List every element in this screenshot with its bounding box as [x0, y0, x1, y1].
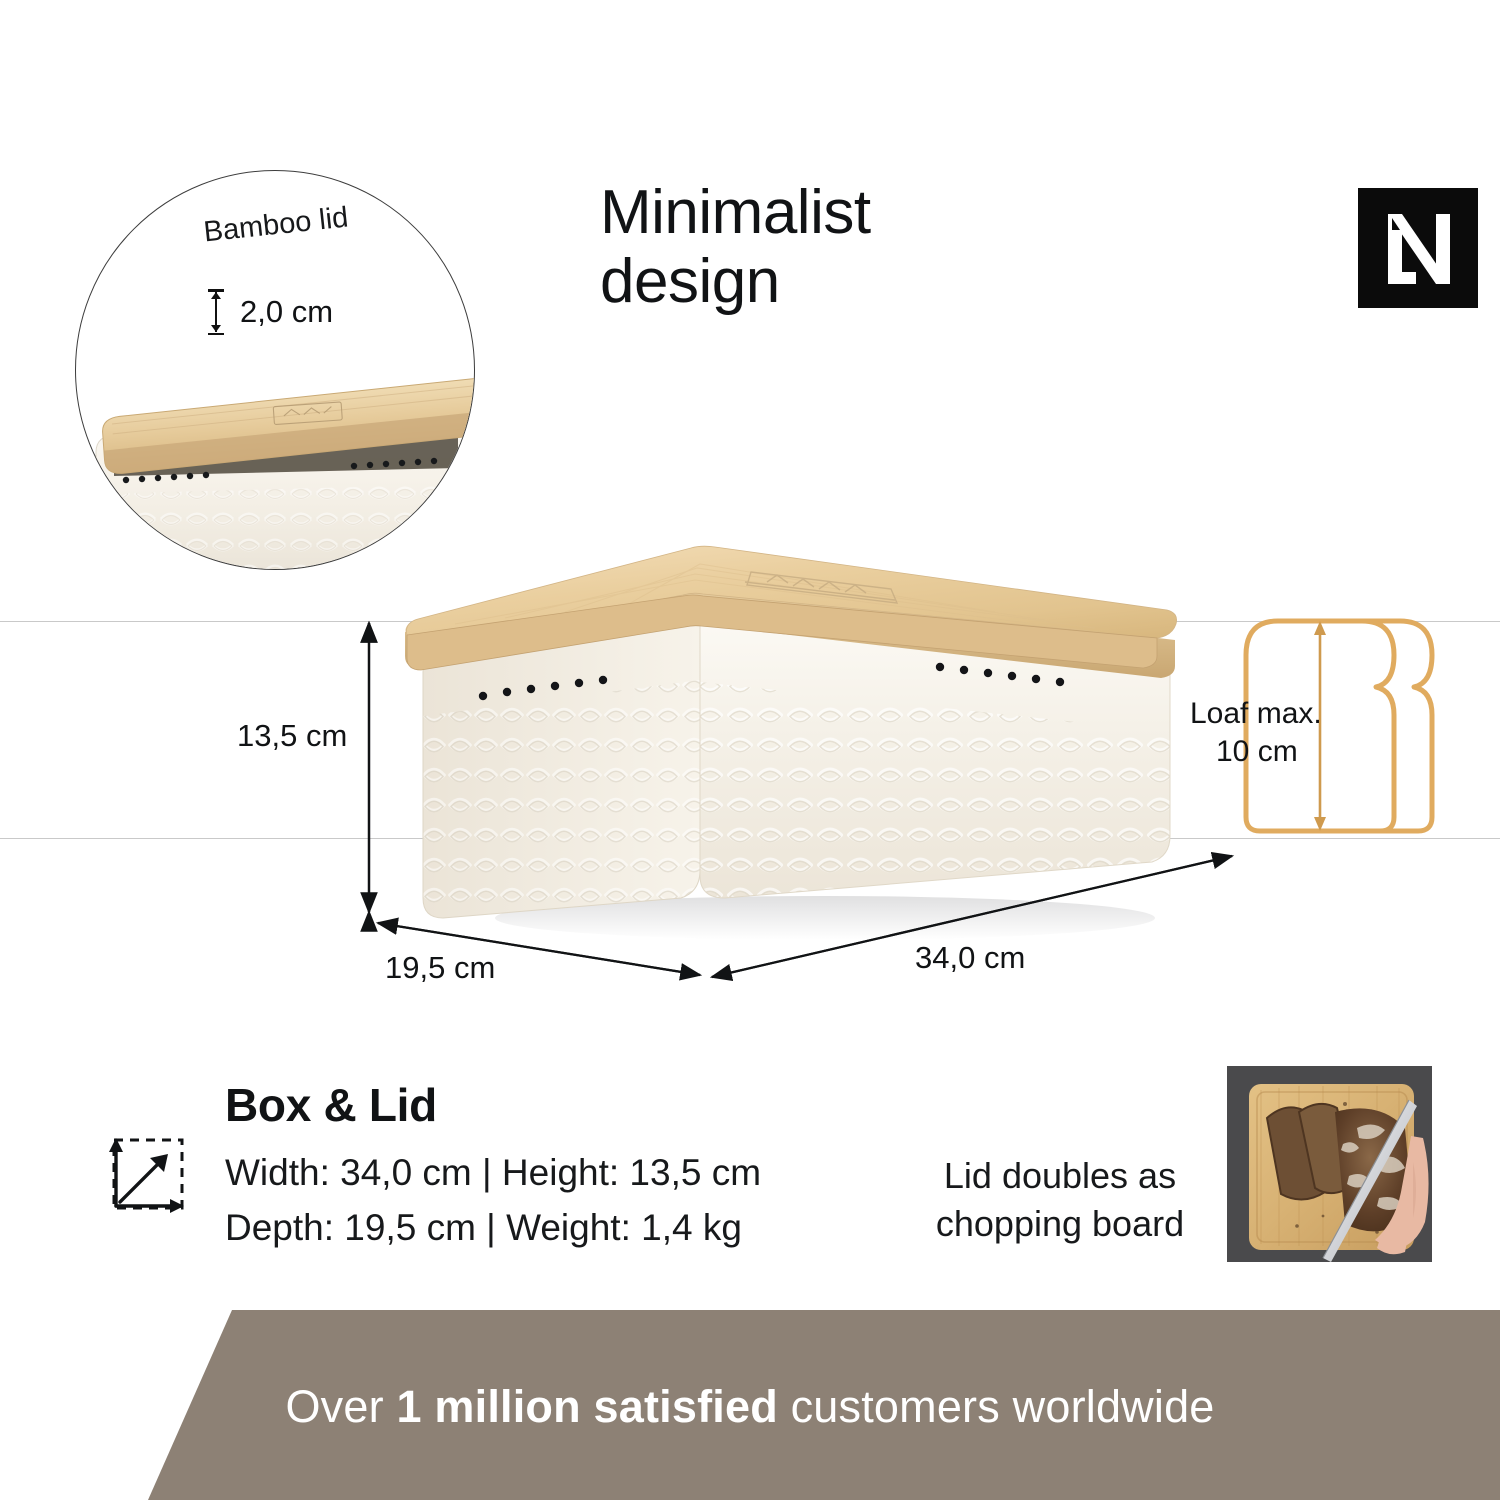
chopping-board-caption: Lid doubles as chopping board — [900, 1152, 1220, 1248]
infographic-page: Minimalist design Bamboo lid 2,0 cm — [0, 0, 1500, 1500]
chopping-board-line-1: Lid doubles as — [900, 1152, 1220, 1200]
depth-dimension-label: 19,5 cm — [385, 950, 495, 986]
lid-thickness-callout: 2,0 cm — [208, 289, 333, 335]
dimensions-arrows-icon — [100, 1128, 196, 1224]
chopping-board-line-2: chopping board — [900, 1200, 1220, 1248]
spec-line-1: Width: 34,0 cm | Height: 13,5 cm — [225, 1146, 761, 1201]
height-dimension-label: 13,5 cm — [237, 718, 347, 754]
vertical-dimension-arrow-icon — [208, 289, 224, 335]
bamboo-lid-inset: Bamboo lid 2,0 cm — [75, 170, 475, 570]
banner-suffix: customers worldwide — [778, 1381, 1215, 1432]
loaf-max-line-1: Loaf max. — [1190, 697, 1322, 730]
brand-logo-n-mark-icon — [1358, 188, 1478, 308]
banner-emphasis: 1 million satisfied — [396, 1381, 777, 1432]
banner-prefix: Over — [285, 1381, 396, 1432]
bread-cutting-board-photo — [1227, 1066, 1432, 1262]
spec-title: Box & Lid — [225, 1078, 437, 1132]
width-dimension-label: 34,0 cm — [915, 940, 1025, 976]
bottom-banner-text: Over 1 million satisfied customers world… — [0, 1381, 1500, 1433]
headline-line-2: design — [600, 247, 1300, 316]
loaf-max-line-2: 10 cm — [1190, 733, 1355, 771]
lid-thickness-value: 2,0 cm — [240, 294, 333, 330]
bread-box-product-image — [395, 520, 1195, 940]
headline-line-1: Minimalist — [600, 178, 871, 247]
bamboo-lid-label: Bamboo lid — [75, 188, 475, 263]
spec-line-2: Depth: 19,5 cm | Weight: 1,4 kg — [225, 1201, 761, 1256]
page-title: Minimalist design — [600, 178, 1300, 317]
loaf-max-callout: Loaf max. 10 cm — [1190, 695, 1355, 772]
spec-details: Width: 34,0 cm | Height: 13,5 cm Depth: … — [225, 1146, 761, 1256]
brand-logo — [1358, 188, 1478, 308]
